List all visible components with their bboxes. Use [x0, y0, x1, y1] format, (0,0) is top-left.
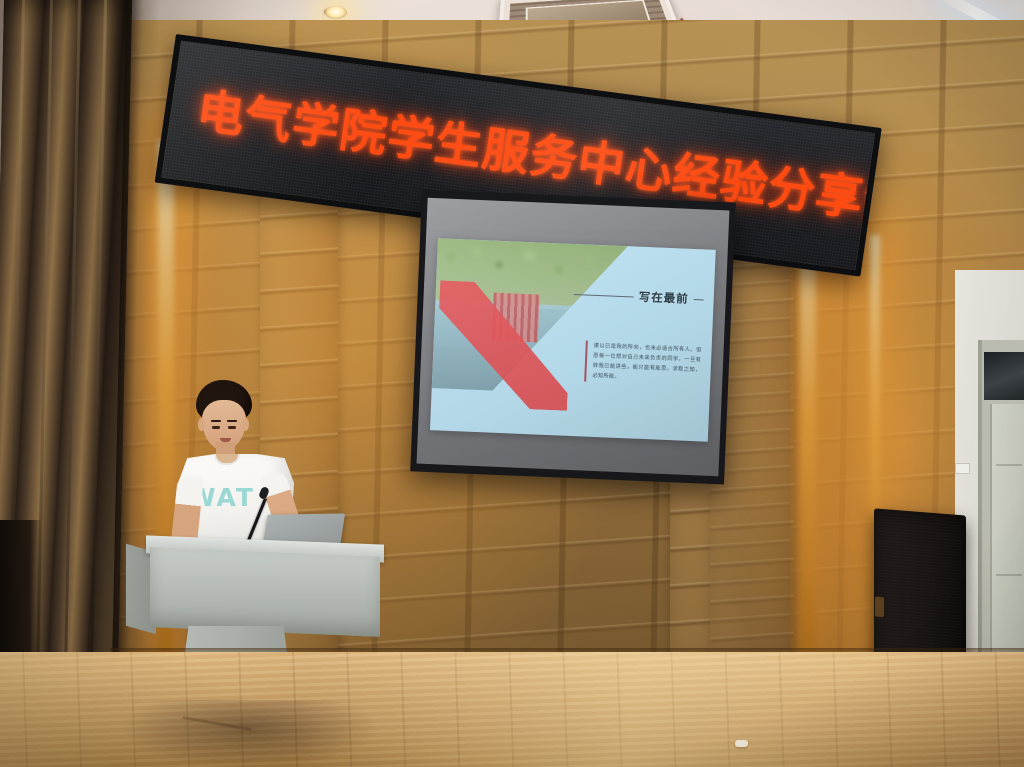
eyebrow [211, 420, 221, 422]
speaker-handle [875, 596, 884, 617]
floor-object [735, 740, 748, 747]
door-panel-line [996, 574, 1022, 576]
podium-floor-shadow [120, 700, 380, 767]
eyebrow [227, 420, 237, 422]
downlight-lit-icon [325, 6, 347, 19]
door-panel-line [996, 464, 1022, 466]
slide-title-row: 写在最前 [573, 286, 704, 307]
slide-rule-right [694, 299, 704, 300]
ear [198, 418, 205, 431]
light-switch-plate[interactable] [955, 463, 970, 474]
slide-body-text: 谨以已是我的所向，也未必适合所有人。但愿每一位想对自己未来负责的同学，一旦有转我… [592, 341, 702, 386]
slide-rule-left [574, 293, 634, 297]
eye [212, 426, 220, 429]
slide-body-block: 谨以已是我的所向，也未必适合所有人。但愿每一位想对自己未来负责的同学，一旦有转我… [584, 341, 702, 386]
door-transom-glass [984, 352, 1024, 400]
slide-title: 写在最前 [638, 289, 689, 307]
slide-accent-bar [584, 341, 588, 382]
projection-screen-surface: 写在最前 谨以已是我的所向，也未必适合所有人。但愿每一位想对自己未来负责的同学，… [417, 198, 730, 476]
projection-screen-housing: 写在最前 谨以已是我的所向，也未必适合所有人。但愿每一位想对自己未来负责的同学，… [410, 190, 736, 485]
podium-front-panel [150, 547, 380, 637]
presentation-slide: 写在最前 谨以已是我的所向，也未必适合所有人。但愿每一位想对自己未来负责的同学，… [430, 238, 716, 441]
eye [228, 426, 236, 429]
lecture-hall-scene: 电气学院学生服务中心经验分享会——本科生专场 写在最前 谨以 [0, 0, 1024, 767]
ear [242, 418, 249, 431]
